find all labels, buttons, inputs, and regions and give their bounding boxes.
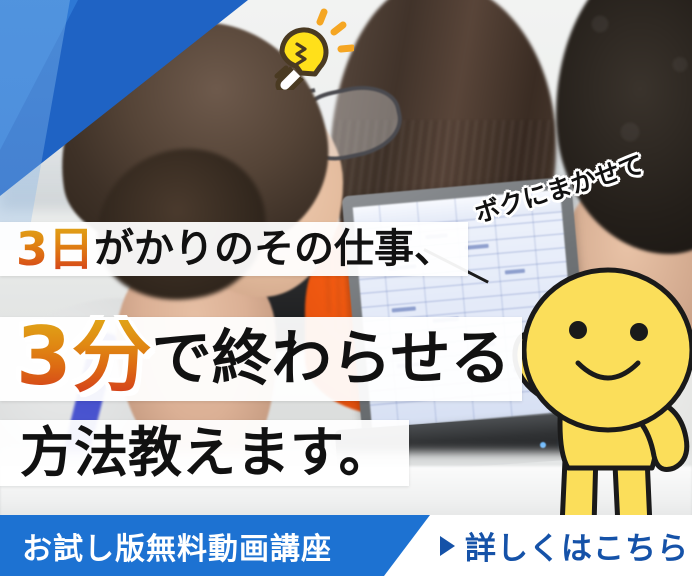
- headline-band-3: 方法教えます。: [0, 420, 409, 486]
- headline-band-2: 3分 で終わらせる: [0, 317, 522, 401]
- lightbulb-icon: [262, 8, 354, 90]
- headline-text-line1: がかりのその仕事、: [94, 227, 454, 271]
- headline-text-line2: で終わらせる: [152, 327, 511, 391]
- cta-badge[interactable]: お試し版無料動画講座: [0, 515, 430, 576]
- cta-details-link[interactable]: 詳しくはこちら: [440, 515, 689, 576]
- cta-bar[interactable]: お試し版無料動画講座 詳しくはこちら: [0, 515, 692, 576]
- promo-banner: ボクにまかせて 3日 がかりのその仕事、 3分 で終わらせる 方法教えます。 お…: [0, 0, 692, 576]
- cta-badge-label: お試し版無料動画講座: [22, 524, 332, 568]
- headline-band-1: 3日 がかりのその仕事、: [0, 222, 468, 276]
- headline-accent-3minutes: 3分: [16, 320, 152, 394]
- yellow-mascot-character: [496, 238, 692, 538]
- headline-text-line3: 方法教えます。: [20, 424, 393, 482]
- headline-accent-3days: 3日: [16, 226, 94, 272]
- cta-details-link-label: 詳しくはこちら: [465, 523, 689, 568]
- play-arrow-icon: [440, 536, 455, 556]
